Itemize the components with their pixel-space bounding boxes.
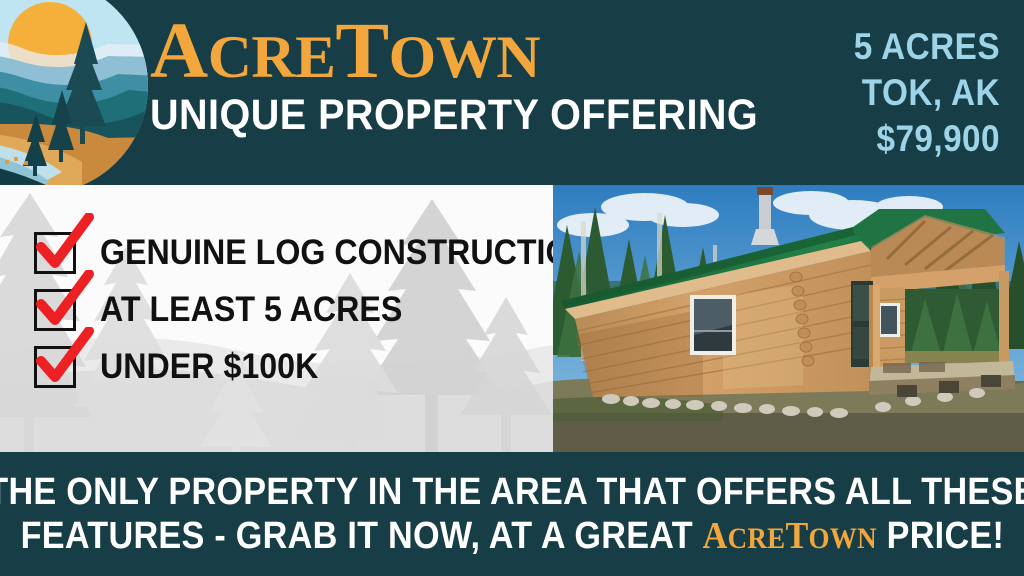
page-title: ACRETOWN bbox=[150, 14, 782, 90]
brand-title-own: OWN bbox=[389, 24, 540, 90]
header-bar: ACRETOWN UNIQUE PROPERTY OFFERING 5 ACRE… bbox=[0, 0, 1024, 185]
brand-title-cre: CRE bbox=[208, 24, 336, 90]
log-cabin-image bbox=[553, 185, 1024, 452]
listing-acreage: 5 ACRES bbox=[793, 24, 1000, 70]
list-item[interactable]: GENUINE LOG CONSTRUCTION bbox=[34, 225, 534, 280]
footer-line-1: THE ONLY PROPERTY IN THE AREA THAT OFFER… bbox=[0, 470, 1024, 514]
footer-brand-own: OWN bbox=[808, 522, 876, 555]
checkbox-2[interactable] bbox=[34, 289, 76, 331]
footer-brand-cre: CRE bbox=[727, 522, 785, 555]
list-item[interactable]: UNDER $100K bbox=[34, 339, 534, 394]
feature-label-2: AT LEAST 5 ACRES bbox=[100, 292, 402, 327]
logo-landscape-icon bbox=[0, 0, 148, 186]
footer-brand-t: T bbox=[785, 515, 808, 557]
cabin-photo[interactable] bbox=[553, 185, 1024, 452]
list-item[interactable]: AT LEAST 5 ACRES bbox=[34, 282, 534, 337]
feature-checklist: GENUINE LOG CONSTRUCTION AT LEAST 5 ACRE… bbox=[34, 225, 534, 396]
footer-line-2: FEATURES - GRAB IT NOW, AT A GREAT ACRET… bbox=[20, 514, 1004, 558]
listing-location: TOK, AK bbox=[793, 70, 1000, 116]
checkbox-1[interactable] bbox=[34, 232, 76, 274]
listing-price: $79,900 bbox=[793, 116, 1000, 162]
brand-title-t: T bbox=[335, 8, 388, 95]
footer-brand-a: A bbox=[702, 515, 727, 557]
feature-label-3: UNDER $100K bbox=[100, 349, 318, 384]
acretown-logo[interactable] bbox=[0, 0, 148, 186]
listing-summary: 5 ACRES TOK, AK $79,900 bbox=[770, 24, 1000, 162]
feature-panel: GENUINE LOG CONSTRUCTION AT LEAST 5 ACRE… bbox=[0, 185, 553, 452]
brand-title-a: A bbox=[150, 8, 208, 95]
footer-text-after: PRICE! bbox=[876, 515, 1003, 557]
feature-label-1: GENUINE LOG CONSTRUCTION bbox=[100, 235, 553, 270]
brand-subtitle: UNIQUE PROPERTY OFFERING bbox=[150, 94, 720, 137]
property-advertisement: ACRETOWN UNIQUE PROPERTY OFFERING 5 ACRE… bbox=[0, 0, 1024, 576]
content-row: GENUINE LOG CONSTRUCTION AT LEAST 5 ACRE… bbox=[0, 185, 1024, 452]
footer-text-before: FEATURES - GRAB IT NOW, AT A GREAT bbox=[20, 515, 702, 557]
checkbox-3[interactable] bbox=[34, 346, 76, 388]
brand-block: ACRETOWN UNIQUE PROPERTY OFFERING bbox=[150, 14, 770, 137]
footer-brand-word: ACRETOWN bbox=[702, 515, 876, 557]
footer-banner: THE ONLY PROPERTY IN THE AREA THAT OFFER… bbox=[0, 452, 1024, 576]
